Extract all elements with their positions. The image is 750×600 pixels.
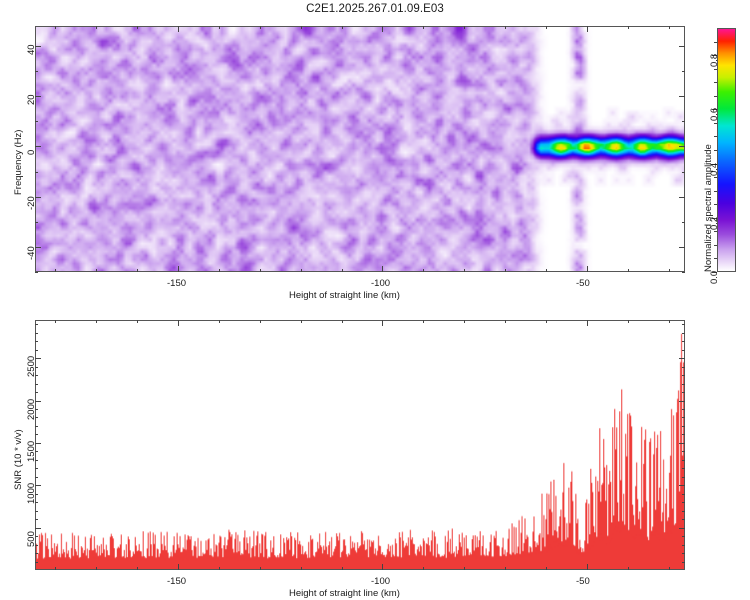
axis-tick (628, 26, 629, 29)
axis-tick (35, 434, 38, 435)
axis-tick (35, 375, 38, 376)
axis-tick (714, 177, 717, 178)
axis-tick (587, 564, 588, 570)
axis-tick (464, 269, 465, 272)
axis-tick (682, 434, 685, 435)
axis-tick (546, 320, 547, 323)
axis-tick (35, 426, 38, 427)
axis-tick (342, 320, 343, 323)
axis-tick (382, 266, 383, 272)
figure-title: C2E1.2025.267.01.09.E03 (0, 3, 750, 15)
axis-tick (260, 269, 261, 272)
axis-tick (682, 511, 685, 512)
axis-tick (260, 320, 261, 323)
axis-tick (714, 150, 717, 151)
axis-tick (137, 320, 138, 323)
axis-tick (96, 269, 97, 272)
axis-tick (714, 245, 717, 246)
axis-tick (35, 367, 38, 368)
axis-tick (682, 545, 685, 546)
axis-tick (682, 426, 685, 427)
axis-tick (679, 401, 685, 402)
spectrogram-y-axis-label: Frequency (Hz) (13, 130, 24, 195)
axis-tick (587, 266, 588, 272)
axis-tick (682, 350, 685, 351)
axis-tick (35, 553, 38, 554)
axis-tick (682, 341, 685, 342)
axis-tick (35, 384, 38, 385)
axis-tick (35, 468, 38, 469)
axis-tick (464, 26, 465, 29)
axis-tick (546, 269, 547, 272)
axis-tick (679, 358, 685, 359)
axis-tick (301, 26, 302, 29)
axis-tick-label: -50 (576, 278, 590, 289)
axis-tick (587, 26, 588, 32)
axis-tick (342, 26, 343, 29)
axis-tick (682, 384, 685, 385)
axis-tick (682, 460, 685, 461)
axis-tick (679, 197, 685, 198)
axis-tick (35, 417, 38, 418)
axis-tick (587, 320, 588, 326)
axis-tick (679, 146, 685, 147)
axis-tick (628, 269, 629, 272)
axis-tick (55, 26, 56, 29)
figure-root: C2E1.2025.267.01.09.E03 -150-100-5040200… (0, 0, 750, 600)
axis-tick (714, 136, 717, 137)
axis-tick (464, 567, 465, 570)
axis-tick (714, 123, 717, 124)
axis-tick (178, 564, 179, 570)
axis-tick (35, 350, 38, 351)
axis-tick (628, 567, 629, 570)
axis-tick (35, 272, 38, 273)
axis-tick (682, 451, 685, 452)
axis-tick (682, 222, 685, 223)
axis-tick-label: -40 (26, 246, 37, 260)
axis-tick (35, 519, 38, 520)
axis-tick-label: -150 (167, 576, 186, 587)
axis-tick (714, 96, 717, 97)
axis-tick (679, 443, 685, 444)
axis-tick (137, 567, 138, 570)
snr-x-axis-label: Height of straight line (km) (289, 588, 400, 599)
axis-tick (682, 367, 685, 368)
axis-tick-label: 20 (26, 94, 37, 105)
axis-tick-label: -50 (576, 576, 590, 587)
axis-tick (35, 341, 38, 342)
axis-tick (505, 269, 506, 272)
axis-tick (35, 146, 41, 147)
axis-tick (505, 567, 506, 570)
axis-tick (682, 502, 685, 503)
axis-tick-label: 40 (26, 44, 37, 55)
axis-tick (714, 231, 717, 232)
axis-tick (35, 121, 38, 122)
axis-tick (35, 477, 38, 478)
axis-tick (35, 536, 38, 537)
axis-tick-label: 0 (26, 150, 37, 155)
axis-tick (35, 528, 41, 529)
axis-tick (35, 545, 38, 546)
spectrogram-panel (35, 26, 685, 272)
axis-tick (423, 320, 424, 323)
axis-tick (423, 269, 424, 272)
axis-tick (679, 485, 685, 486)
axis-tick (35, 562, 38, 563)
axis-tick (682, 375, 685, 376)
axis-tick (382, 320, 383, 326)
axis-tick (682, 417, 685, 418)
axis-tick (178, 26, 179, 32)
axis-tick (682, 536, 685, 537)
axis-tick (35, 451, 38, 452)
axis-tick (682, 272, 685, 273)
axis-tick (679, 247, 685, 248)
axis-tick (35, 392, 38, 393)
snr-y-axis-label: SNR (10 * v/v) (13, 429, 24, 490)
axis-tick (714, 204, 717, 205)
axis-tick-label: -20 (26, 196, 37, 210)
axis-tick (137, 269, 138, 272)
colorbar-gradient (718, 29, 735, 271)
axis-tick-label: -100 (371, 576, 390, 587)
axis-tick (682, 562, 685, 563)
axis-tick (55, 567, 56, 570)
axis-tick (682, 324, 685, 325)
axis-tick (35, 511, 38, 512)
axis-tick (301, 567, 302, 570)
axis-tick (714, 191, 717, 192)
axis-tick (464, 320, 465, 323)
spectrogram-x-axis-label: Height of straight line (km) (289, 290, 400, 301)
axis-tick (505, 26, 506, 29)
axis-tick (546, 567, 547, 570)
axis-tick (301, 320, 302, 323)
snr-panel (35, 320, 685, 570)
snr-trace (36, 321, 684, 569)
axis-tick (35, 502, 38, 503)
axis-tick (301, 269, 302, 272)
axis-tick (682, 409, 685, 410)
axis-tick-label: 0.6 (709, 108, 720, 121)
axis-tick (423, 567, 424, 570)
axis-tick (669, 320, 670, 323)
axis-tick-label: -100 (371, 278, 390, 289)
axis-tick-label: 0.8 (709, 54, 720, 67)
axis-tick (55, 269, 56, 272)
axis-tick (96, 320, 97, 323)
axis-tick (669, 269, 670, 272)
axis-tick (137, 26, 138, 29)
axis-tick (178, 266, 179, 272)
axis-tick (35, 71, 38, 72)
axis-tick (682, 392, 685, 393)
axis-tick (669, 26, 670, 29)
axis-tick (546, 26, 547, 29)
axis-tick (35, 324, 38, 325)
axis-tick (35, 409, 38, 410)
axis-tick (260, 26, 261, 29)
axis-tick (382, 26, 383, 32)
axis-tick (423, 26, 424, 29)
axis-tick (682, 172, 685, 173)
axis-tick (628, 320, 629, 323)
axis-tick (679, 46, 685, 47)
axis-tick (682, 71, 685, 72)
axis-tick (35, 333, 38, 334)
axis-tick (682, 477, 685, 478)
axis-tick (35, 494, 38, 495)
axis-tick (679, 528, 685, 529)
axis-tick (682, 121, 685, 122)
axis-tick (260, 567, 261, 570)
axis-tick (219, 269, 220, 272)
axis-tick (669, 567, 670, 570)
axis-tick (55, 320, 56, 323)
axis-tick (35, 460, 38, 461)
axis-tick (96, 567, 97, 570)
axis-tick (505, 320, 506, 323)
axis-tick (682, 553, 685, 554)
axis-tick (342, 269, 343, 272)
axis-tick (35, 172, 38, 173)
axis-tick (219, 320, 220, 323)
axis-tick (682, 519, 685, 520)
colorbar-label: Normalized spectral amplitude (703, 144, 714, 272)
axis-tick (682, 494, 685, 495)
axis-tick (96, 26, 97, 29)
axis-tick (714, 258, 717, 259)
axis-tick (219, 26, 220, 29)
axis-tick (219, 567, 220, 570)
axis-tick-label: 0.0 (709, 271, 720, 284)
axis-tick (178, 320, 179, 326)
axis-tick-label: -150 (167, 278, 186, 289)
axis-tick (679, 96, 685, 97)
axis-tick (714, 42, 717, 43)
axis-tick (35, 222, 38, 223)
axis-tick (682, 468, 685, 469)
axis-tick (342, 567, 343, 570)
axis-tick (714, 69, 717, 70)
spectrogram-image (36, 27, 684, 271)
axis-tick (682, 333, 685, 334)
axis-tick (714, 82, 717, 83)
axis-tick (382, 564, 383, 570)
